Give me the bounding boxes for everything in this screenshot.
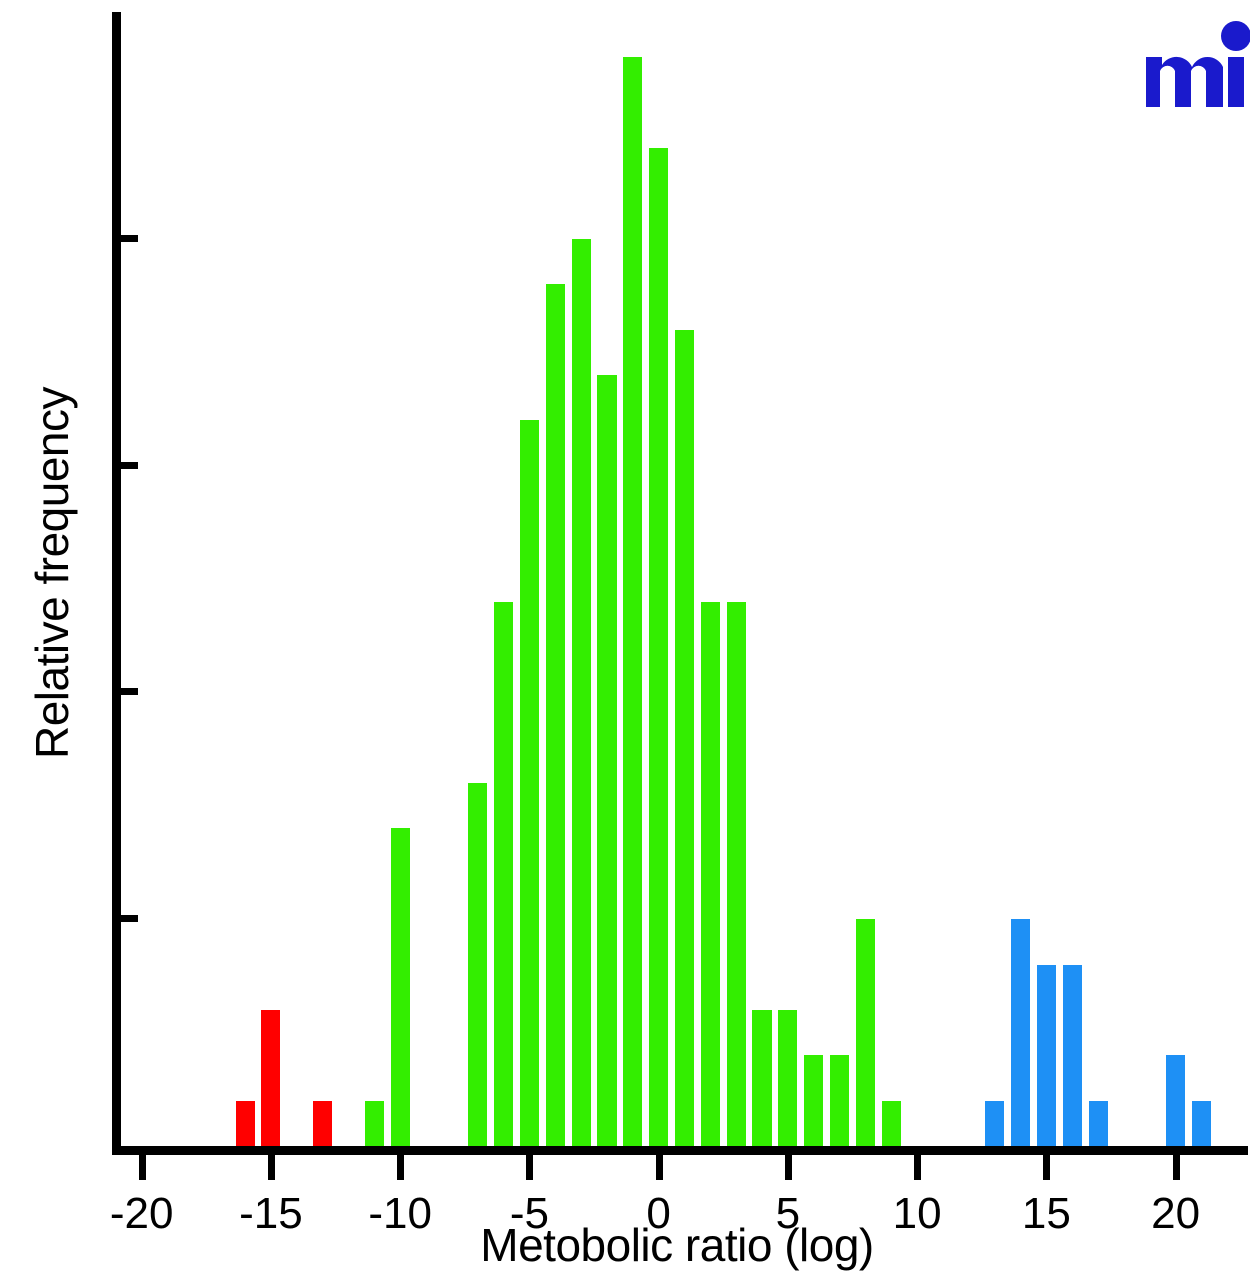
x-axis-tick [139, 1152, 146, 1180]
y-axis-tick [112, 915, 138, 922]
x-axis-tick-label: 15 [976, 1192, 1116, 1236]
histogram-bar [1089, 1101, 1108, 1146]
x-axis-tick [656, 1152, 663, 1180]
histogram-bar [882, 1101, 901, 1146]
bars-and-ticks-layer: 0510152025-20-15-10-505101520 [121, 12, 1248, 1146]
histogram-bar [675, 330, 694, 1146]
histogram-bar [261, 1010, 280, 1146]
x-axis-tick-label: -20 [72, 1192, 212, 1236]
histogram-bar [701, 602, 720, 1146]
x-axis-tick [397, 1152, 404, 1180]
x-axis-tick [1043, 1152, 1050, 1180]
x-axis-tick-label: 0 [589, 1192, 729, 1236]
histogram-bar [1063, 965, 1082, 1146]
x-axis-tick [914, 1152, 921, 1180]
histogram-bar [1011, 919, 1030, 1146]
x-axis-tick [268, 1152, 275, 1180]
histogram-bar [520, 420, 539, 1146]
y-axis-tick [112, 462, 138, 469]
x-axis-tick-label: -15 [201, 1192, 341, 1236]
y-axis-title: Relative frequency [25, 283, 79, 863]
plot-area: 0510152025-20-15-10-505101520 [112, 12, 1248, 1155]
x-axis-tick-label: 10 [847, 1192, 987, 1236]
histogram-bar [649, 148, 668, 1146]
x-axis-tick [526, 1152, 533, 1180]
x-axis-tick [1173, 1152, 1180, 1180]
x-axis-tick-label: 20 [1106, 1192, 1246, 1236]
x-axis-tick-label: -5 [459, 1192, 599, 1236]
x-axis-tick [785, 1152, 792, 1180]
histogram-bar [313, 1101, 332, 1146]
mi-logo [1140, 14, 1250, 114]
histogram-bar [778, 1010, 797, 1146]
histogram-bar [468, 783, 487, 1146]
histogram-bar [1037, 965, 1056, 1146]
x-axis-tick-label: 5 [718, 1192, 858, 1236]
histogram-bar [236, 1101, 255, 1146]
x-axis-tick-label: -10 [330, 1192, 470, 1236]
histogram-bar [597, 375, 616, 1146]
histogram-bar [572, 239, 591, 1146]
histogram-bar [830, 1055, 849, 1146]
histogram-bar [804, 1055, 823, 1146]
histogram-bar [546, 284, 565, 1146]
histogram-bar [623, 57, 642, 1146]
histogram-bar [365, 1101, 384, 1146]
histogram-bar [1192, 1101, 1211, 1146]
histogram-bar [494, 602, 513, 1146]
histogram-bar [856, 919, 875, 1146]
histogram-bar [391, 828, 410, 1146]
y-axis-tick [112, 688, 138, 695]
y-axis-tick [112, 235, 138, 242]
histogram-bar [752, 1010, 771, 1146]
histogram-bar [985, 1101, 1004, 1146]
histogram-bar [1166, 1055, 1185, 1146]
histogram-bar [727, 602, 746, 1146]
histogram-figure: Relative frequency Metobolic ratio (log)… [0, 0, 1260, 1280]
